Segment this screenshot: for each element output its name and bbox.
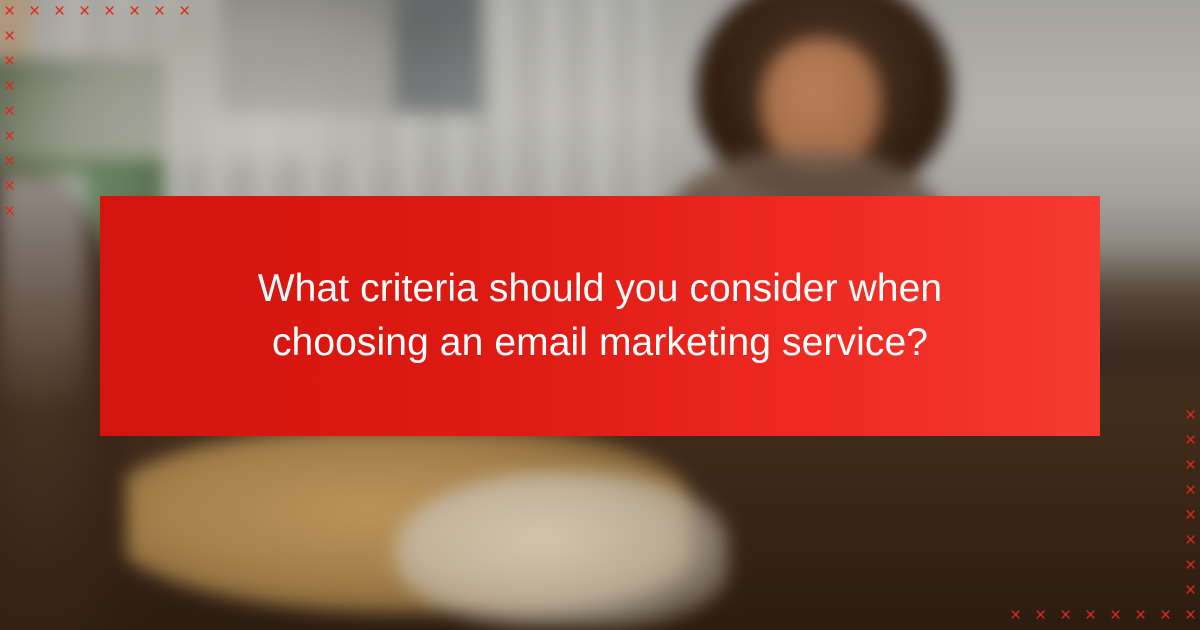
x-mark: × <box>1183 608 1198 623</box>
x-mark: × <box>2 204 17 219</box>
x-mark: × <box>152 4 167 19</box>
x-mark: × <box>1083 608 1098 623</box>
x-mark: × <box>1033 608 1048 623</box>
x-mark: × <box>2 129 17 144</box>
x-mark: × <box>77 4 92 19</box>
x-mark: × <box>1183 483 1198 498</box>
x-mark: × <box>2 54 17 69</box>
x-mark: × <box>1183 583 1198 598</box>
x-mark: × <box>2 104 17 119</box>
x-mark: × <box>1008 608 1023 623</box>
x-mark: × <box>1058 608 1073 623</box>
x-mark: × <box>2 154 17 169</box>
x-mark: × <box>177 4 192 19</box>
x-mark: × <box>1183 408 1198 423</box>
x-mark: × <box>1183 458 1198 473</box>
x-mark: × <box>1158 608 1173 623</box>
x-mark: × <box>52 4 67 19</box>
x-mark: × <box>1108 608 1123 623</box>
social-card-canvas: ×××××××× ×××××××× ×××××××× ×××××××× What… <box>0 0 1200 630</box>
x-mark: × <box>102 4 117 19</box>
x-mark: × <box>27 4 42 19</box>
x-mark: × <box>2 29 17 44</box>
x-mark: × <box>1133 608 1148 623</box>
x-mark: × <box>1183 508 1198 523</box>
x-mark: × <box>2 4 17 19</box>
x-mark: × <box>2 79 17 94</box>
x-mark: × <box>127 4 142 19</box>
x-mark: × <box>1183 533 1198 548</box>
background-cushion <box>395 471 728 627</box>
x-mark: × <box>1183 558 1198 573</box>
headline-banner: What criteria should you consider when c… <box>100 196 1100 436</box>
background-floor <box>0 0 395 159</box>
x-mark: × <box>2 179 17 194</box>
headline-text: What criteria should you consider when c… <box>239 262 961 370</box>
x-mark: × <box>1183 433 1198 448</box>
